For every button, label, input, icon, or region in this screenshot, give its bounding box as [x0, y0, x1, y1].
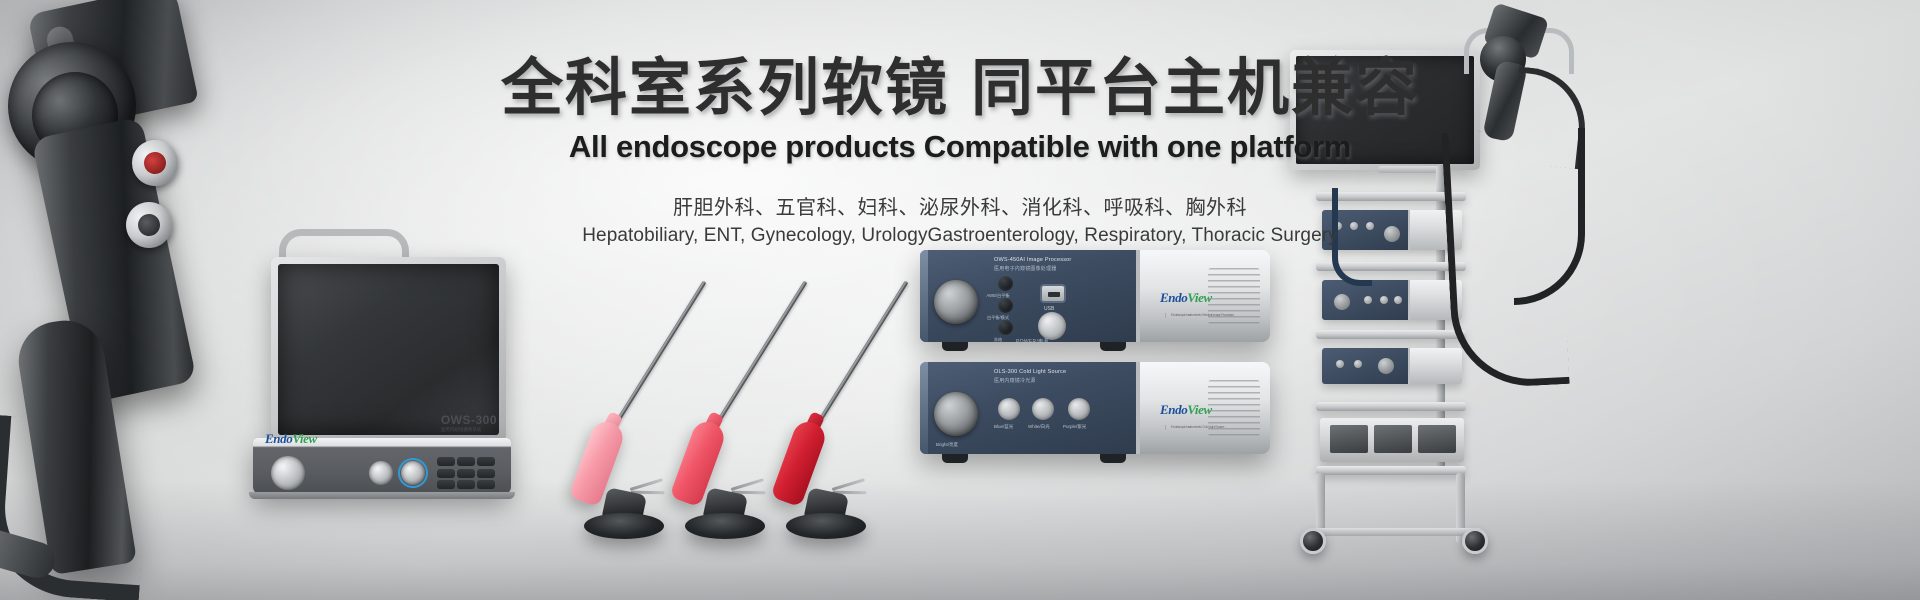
keypad-key	[477, 457, 495, 466]
image-processor-unit: OWS-450AI Image Processor 医用电子内窥镜图像处理器 A…	[920, 250, 1270, 342]
cart-device-front-panel	[1322, 348, 1410, 384]
keypad-key	[457, 469, 475, 478]
camera-head-port	[271, 456, 305, 490]
light-button-white-label: White/白光	[1028, 424, 1050, 430]
monitor-screen	[278, 264, 499, 435]
product-banner: OWS-300 医用内窥镜摄像系统 EndoView	[0, 0, 1920, 600]
keypad-key	[477, 480, 495, 489]
camera-system-foot	[249, 492, 515, 499]
cart-device-knob	[1334, 294, 1350, 310]
cart-caster-wheel	[1462, 528, 1488, 554]
processor-model-cn: 医用电子内窥镜图像处理器	[994, 265, 1071, 272]
processor-button-dot	[998, 276, 1013, 291]
clip-jaw-upper	[832, 478, 865, 491]
monitor-model-subtext: 医用内窥镜摄像系统	[441, 427, 497, 433]
light-guide-port	[369, 461, 393, 485]
keypad-key	[437, 469, 455, 478]
brand-view-text: View	[292, 431, 316, 446]
keypad-key	[477, 469, 495, 478]
brand-endo-text: Endo	[1160, 402, 1187, 417]
cold-light-source-unit: OLS-300 Cold Light Source 医用内窥镜冷光源 Blue/…	[920, 362, 1270, 454]
page-subtitle: All endoscope products Compatible with o…	[0, 129, 1920, 165]
control-keypad	[437, 457, 495, 489]
processor-button-label: 冻结	[994, 337, 1002, 342]
cart-device-knob	[1378, 358, 1394, 374]
processor-foot	[942, 342, 968, 351]
keypad-key	[437, 457, 455, 466]
brand-endo-text: Endo	[1160, 290, 1187, 305]
light-source-vents	[1208, 380, 1260, 436]
clip-jaw-upper	[731, 478, 764, 491]
light-source-front-panel: OLS-300 Cold Light Source 医用内窥镜冷光源 Blue/…	[920, 362, 1140, 454]
accessory-port-highlighted	[401, 461, 425, 485]
light-button-blue[interactable]	[998, 398, 1020, 420]
keypad-key	[457, 480, 475, 489]
light-button-blue-label: Blue/蓝光	[994, 424, 1013, 430]
laparoscope-shaft	[711, 281, 807, 432]
processor-foot	[1100, 342, 1126, 351]
monitor-model-text: OWS-300	[441, 413, 497, 427]
light-source-model-cn: 医用内窥镜冷光源	[994, 377, 1066, 384]
power-button-label: POWER/电源	[1016, 338, 1049, 342]
laparoscope-stand-base	[786, 513, 866, 539]
cart-caster-wheel	[1300, 528, 1326, 554]
cart-device-indicator	[1380, 296, 1388, 304]
processor-light-guide-socket	[934, 280, 978, 324]
laparoscope-stand-base	[584, 513, 664, 539]
monitor-model-label: OWS-300 医用内窥镜摄像系统	[441, 413, 497, 433]
laparoscope-shaft	[812, 281, 908, 432]
departments-list-en: Hepatobiliary, ENT, Gynecology, UrologyG…	[0, 225, 1920, 247]
processor-model-en: OWS-450AI Image Processor	[994, 257, 1071, 263]
cart-shelf	[1316, 466, 1466, 475]
processor-button-dot	[998, 320, 1013, 335]
processor-vents	[1208, 268, 1260, 324]
page-title: 全科室系列软镜同平台主机兼容	[0, 54, 1920, 123]
cart-base-bar	[1312, 528, 1482, 536]
processor-model-label: OWS-450AI Image Processor 医用电子内窥镜图像处理器	[994, 257, 1071, 272]
light-button-purple[interactable]	[1068, 398, 1090, 420]
light-source-model-en: OLS-300 Cold Light Source	[994, 369, 1066, 375]
cart-device-indicator	[1336, 360, 1344, 368]
departments-list-cn: 肝胆外科、五官科、妇科、泌尿外科、消化科、呼吸科、胸外科	[0, 191, 1920, 220]
usb-port	[1040, 284, 1066, 303]
brand-endo-text: Endo	[265, 431, 292, 446]
keypad-key	[437, 480, 455, 489]
keypad-key	[457, 457, 475, 466]
laparoscope-stand-base	[685, 513, 765, 539]
light-source-foot	[1100, 454, 1126, 463]
brightness-knob-label: Bright/亮度	[936, 442, 958, 448]
light-button-purple-label: Purple/紫光	[1063, 424, 1086, 430]
processor-stack: OWS-450AI Image Processor 医用电子内窥镜图像处理器 A…	[920, 250, 1280, 450]
cart-accessory-module	[1374, 425, 1412, 453]
headline-part-one: 全科室系列软镜	[501, 54, 949, 123]
banner-text-block: 全科室系列软镜同平台主机兼容 All endoscope products Co…	[0, 54, 1920, 247]
light-guide-socket	[934, 392, 978, 436]
camera-system-unit: OWS-300 医用内窥镜摄像系统 EndoView	[243, 245, 513, 495]
cart-device-indicator	[1354, 360, 1362, 368]
light-source-foot	[942, 454, 968, 463]
laparoscope-shaft	[610, 281, 706, 432]
processor-front-panel: OWS-450AI Image Processor 医用电子内窥镜图像处理器 A…	[920, 250, 1140, 342]
processor-button-dot	[998, 298, 1013, 313]
power-button[interactable]	[1038, 312, 1066, 340]
cart-device-indicator	[1394, 296, 1402, 304]
headline-part-two: 同平台主机兼容	[971, 54, 1419, 123]
clip-jaw-upper	[630, 478, 663, 491]
camera-system-brand: EndoView	[265, 431, 317, 447]
cart-device-indicator	[1364, 296, 1372, 304]
light-button-white[interactable]	[1032, 398, 1054, 420]
cart-accessory-module	[1330, 425, 1368, 453]
light-source-model-label: OLS-300 Cold Light Source 医用内窥镜冷光源	[994, 369, 1066, 384]
